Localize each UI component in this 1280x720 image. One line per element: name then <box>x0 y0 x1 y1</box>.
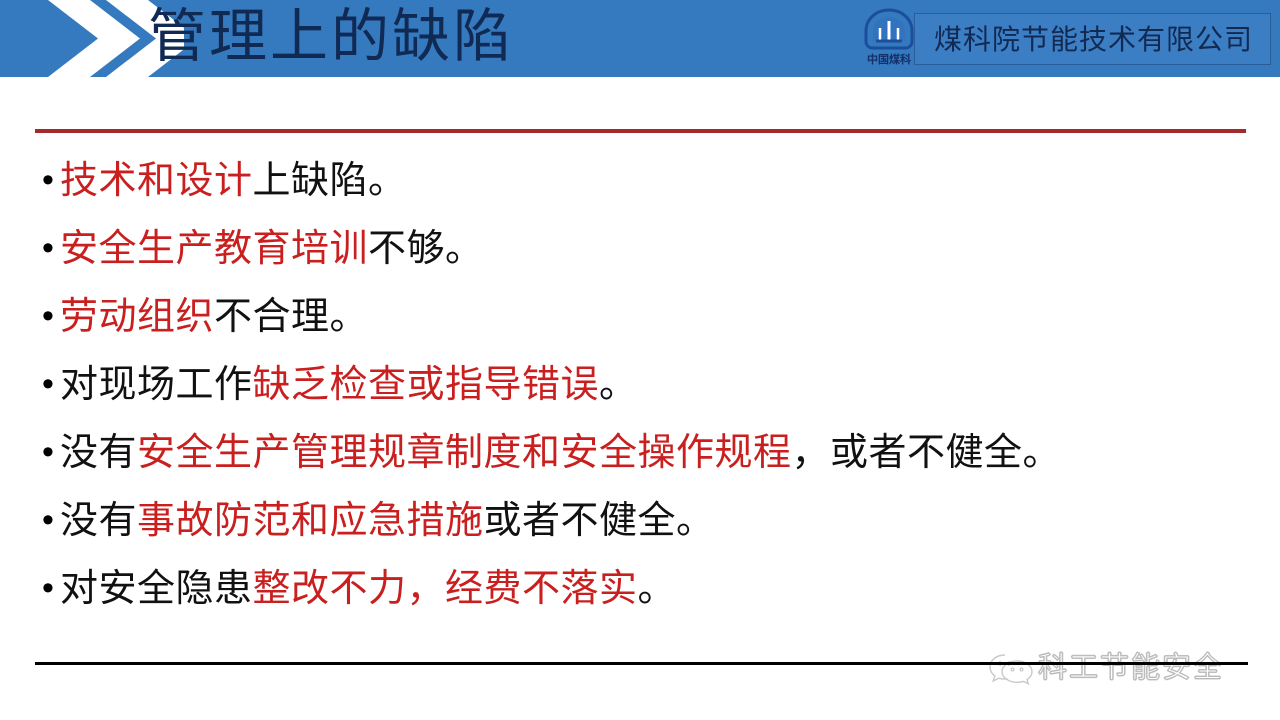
page-title: 管理上的缺陷 <box>148 0 514 77</box>
watermark-label: 科工节能安全 <box>1038 649 1224 687</box>
bullet-dot-icon: • <box>38 424 60 480</box>
list-item-text: 对现场工作缺乏检查或指导错误。 <box>60 356 638 414</box>
footer-watermark: 科工节能安全 <box>988 645 1250 691</box>
text-segment-red: 安全生产教育培训 <box>60 228 368 270</box>
bullet-dot-icon: • <box>38 288 60 344</box>
company-name-box: 煤科院节能技术有限公司 <box>914 13 1271 65</box>
text-segment-black: 上缺陷。 <box>253 160 407 202</box>
header-divider-rule <box>35 129 1246 133</box>
bullet-dot-icon: • <box>38 492 60 548</box>
text-segment-black: 或者不健全。 <box>484 500 715 542</box>
text-segment-red: 劳动组织 <box>60 296 214 338</box>
list-item-text: 没有安全生产管理规章制度和安全操作规程，或者不健全。 <box>60 424 1061 482</box>
list-item: •对现场工作缺乏检查或指导错误。 <box>38 356 1248 424</box>
text-segment-black: 不合理。 <box>214 296 368 338</box>
bullet-dot-icon: • <box>38 560 60 616</box>
bullet-dot-icon: • <box>38 356 60 412</box>
list-item: •没有安全生产管理规章制度和安全操作规程，或者不健全。 <box>38 424 1248 492</box>
bullet-dot-icon: • <box>38 220 60 276</box>
list-item: •安全生产教育培训不够。 <box>38 220 1248 288</box>
list-item-text: 劳动组织不合理。 <box>60 288 368 346</box>
wechat-icon <box>988 649 1034 687</box>
list-item: •劳动组织不合理。 <box>38 288 1248 356</box>
list-item-text: 技术和设计上缺陷。 <box>60 152 407 210</box>
list-item: •技术和设计上缺陷。 <box>38 152 1248 220</box>
logo-caption: 中国煤科 <box>858 51 920 67</box>
company-logo: 中国煤科 <box>858 8 920 72</box>
text-segment-black: ，或者不健全。 <box>792 432 1062 474</box>
text-segment-red: 安全生产管理规章制度和安全操作规程 <box>137 432 792 474</box>
text-segment-black: 对现场工作 <box>60 364 253 406</box>
bullet-dot-icon: • <box>38 152 60 208</box>
company-name-text: 煤科院节能技术有限公司 <box>915 14 1272 66</box>
text-segment-red: 技术和设计 <box>60 160 253 202</box>
list-item-text: 对安全隐患整改不力，经费不落实。 <box>60 560 676 618</box>
list-item-text: 没有事故防范和应急措施或者不健全。 <box>60 492 715 550</box>
list-item-text: 安全生产教育培训不够。 <box>60 220 484 278</box>
text-segment-red: 事故防范和应急措施 <box>137 500 484 542</box>
slide-header-banner: 管理上的缺陷 中国煤科 煤科院节能技术有限公司 <box>0 0 1280 77</box>
china-coal-technology-logo-icon <box>862 8 916 52</box>
text-segment-black: 对安全隐患 <box>60 568 253 610</box>
text-segment-red: 缺乏检查或指导错误 <box>253 364 600 406</box>
footer-divider-rule <box>35 662 1248 665</box>
bullet-list: •技术和设计上缺陷。•安全生产教育培训不够。•劳动组织不合理。•对现场工作缺乏检… <box>38 152 1248 628</box>
text-segment-black: 没有 <box>60 432 137 474</box>
list-item: •没有事故防范和应急措施或者不健全。 <box>38 492 1248 560</box>
text-segment-black: 。 <box>638 568 677 610</box>
list-item: •对安全隐患整改不力，经费不落实。 <box>38 560 1248 628</box>
presentation-slide: 管理上的缺陷 中国煤科 煤科院节能技术有限公司 •技术和设计上缺陷。•安全生产教… <box>0 0 1280 720</box>
text-segment-black: 没有 <box>60 500 137 542</box>
text-segment-black: 不够。 <box>368 228 484 270</box>
text-segment-black: 。 <box>599 364 638 406</box>
text-segment-red: 整改不力，经费不落实 <box>253 568 638 610</box>
